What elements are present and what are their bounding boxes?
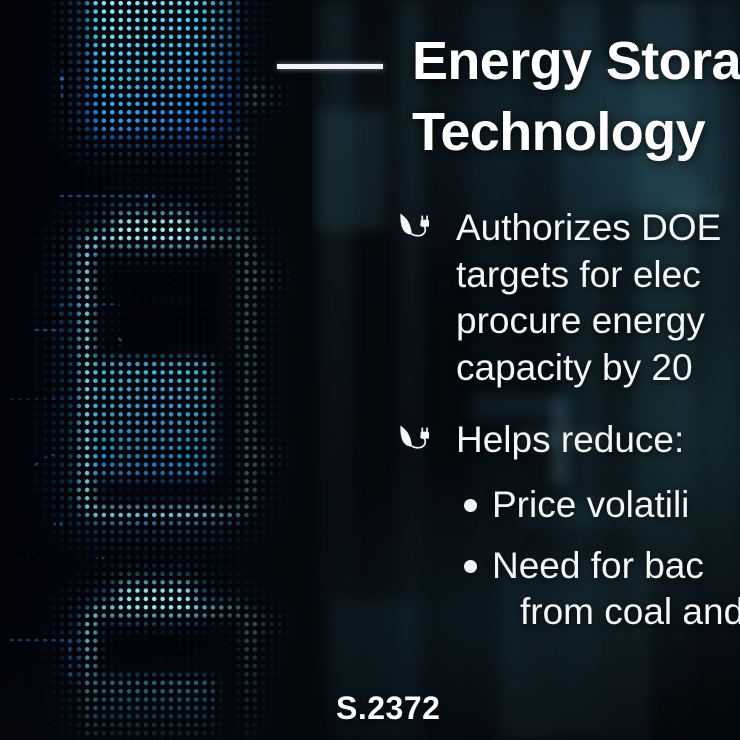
leaf-plug-icon: [398, 424, 432, 456]
dot-icon: [464, 499, 477, 512]
sub-bullet-1-line-1: Price volatili: [492, 484, 689, 525]
title-accent-rule: [277, 64, 383, 69]
bullet-1-line-1: Authorizes DOE: [456, 205, 740, 252]
slide-root: Energy Storage Technology Authorizes DOE…: [0, 0, 740, 740]
battery-circuit-photo: [0, 0, 312, 740]
title-line-1: Energy Storage: [412, 31, 740, 91]
bullet-2-line-1: Helps reduce:: [456, 417, 740, 464]
bullet-block-2: Helps reduce: Price volatili Need for ba…: [398, 417, 740, 635]
sub-bullet-list: Price volatili Need for bac from coal an…: [398, 482, 740, 636]
title-line-2: Technology: [412, 97, 740, 168]
bullet-1-line-2: targets for elec: [456, 252, 740, 299]
sub-bullet-1: Price volatili: [398, 482, 740, 529]
dot-icon: [464, 560, 477, 573]
bullet-1-line-3: procure energy: [456, 298, 740, 345]
photo-bottom-fade: [0, 0, 312, 740]
bill-number: S.2372: [336, 690, 440, 727]
bullet-block-1: Authorizes DOE targets for elec procure …: [398, 205, 740, 391]
sub-bullet-2-line-2: from coal and: [492, 589, 740, 636]
bullet-1-text: Authorizes DOE targets for elec procure …: [398, 205, 740, 391]
leaf-plug-icon: [398, 212, 432, 244]
bullet-1-line-4: capacity by 20: [456, 345, 740, 392]
bullet-2-text: Helps reduce:: [398, 417, 740, 464]
sub-bullet-2-line-1: Need for bac: [492, 545, 704, 586]
page-title: Energy Storage Technology: [412, 26, 740, 169]
sub-bullet-2: Need for bac from coal and: [398, 543, 740, 636]
bullet-list: Authorizes DOE targets for elec procure …: [398, 205, 740, 636]
